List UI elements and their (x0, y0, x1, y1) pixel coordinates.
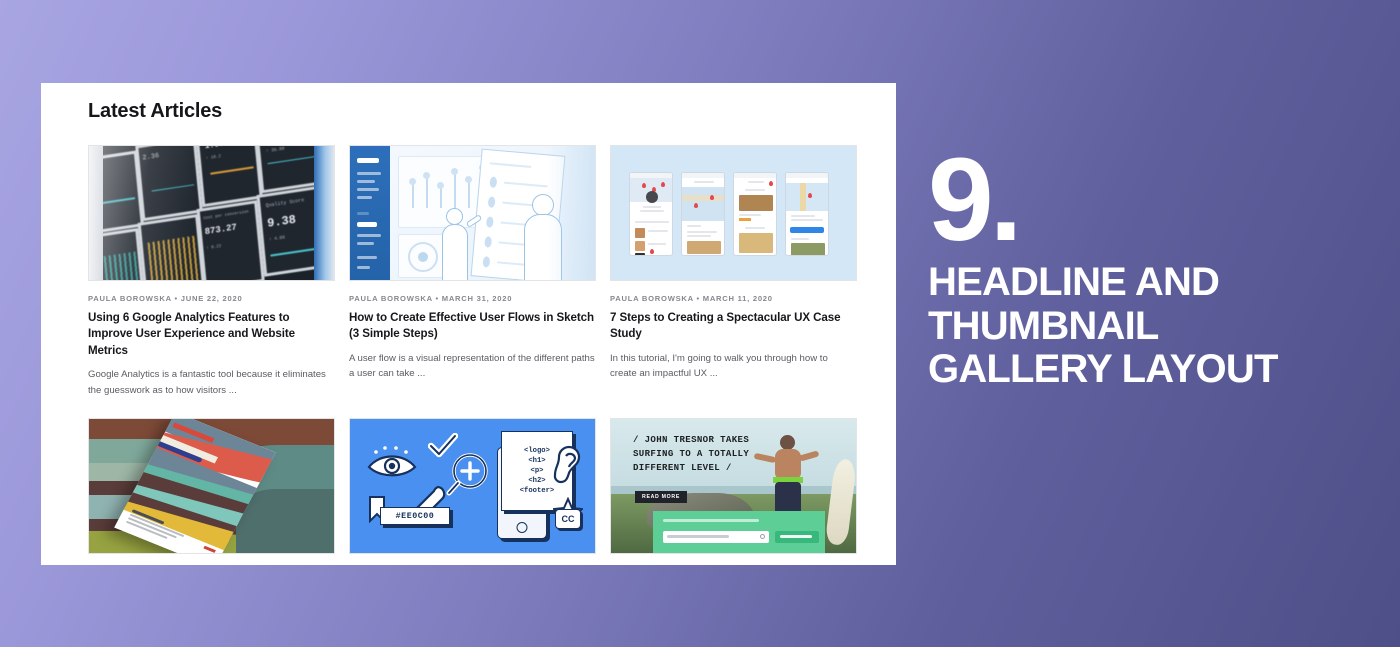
phone-mockup-1 (629, 172, 673, 256)
article-excerpt: In this tutorial, I'm going to walk you … (610, 351, 857, 381)
article-card[interactable]: PAULA BOROWSKA • MARCH 11, 2020 7 Steps … (610, 145, 857, 398)
screen-glare (89, 146, 334, 280)
promo-title: HEADLINE AND THUMBNAIL GALLERY LAYOUT (928, 261, 1388, 391)
phone-mockup-3 (733, 172, 777, 256)
article-excerpt: Google Analytics is a fantastic tool bec… (88, 367, 335, 397)
phone-mockup-4 (785, 172, 829, 256)
hero-headline-line3: DIFFERENT LEVEL / (633, 461, 783, 475)
illustration-shadow (547, 146, 595, 280)
article-headline[interactable]: 7 Steps to Creating a Spectacular UX Cas… (610, 310, 857, 343)
hero-read-more-button: READ MORE (635, 491, 687, 503)
hero-search-input (663, 531, 769, 543)
illustration-sidebar (350, 146, 390, 280)
closed-caption-badge: CC (555, 509, 581, 529)
promo-title-line3: GALLERY LAYOUT (928, 348, 1388, 391)
code-tag: <h1> (528, 457, 545, 465)
mockup-primary-button (790, 227, 824, 233)
article-thumbnail-user-flow[interactable] (349, 145, 596, 281)
hero-search-button (775, 531, 819, 543)
article-headline[interactable]: Using 6 Google Analytics Features to Imp… (88, 310, 335, 359)
illustration-person-left (446, 208, 463, 225)
article-card[interactable]: /// / JOHN TRESNOR TAKES SURFING TO A TO… (610, 418, 857, 565)
code-tag: <footer> (520, 487, 555, 495)
article-byline: PAULA BOROWSKA • MARCH 31, 2020 (349, 294, 596, 303)
article-thumbnail-accessibility[interactable]: <logo> <h1> <p> <h2> <footer> #EE (349, 418, 596, 554)
promo-number: 9. (928, 150, 1388, 251)
hero-headline-line1: / JOHN TRESNOR TAKES (633, 433, 783, 447)
hex-color-value: #EE0C00 (396, 511, 435, 521)
article-thumbnail-surfing-hero[interactable]: /// / JOHN TRESNOR TAKES SURFING TO A TO… (610, 418, 857, 554)
promo-title-line2: THUMBNAIL (928, 305, 1388, 348)
article-card[interactable]: <logo> <h1> <p> <h2> <footer> #EE (349, 418, 596, 565)
hero-decorative-slashes: /// (610, 445, 613, 486)
eye-icon (366, 445, 418, 479)
latest-articles-panel: Latest Articles (41, 83, 896, 565)
article-card[interactable]: CTR 14.65% ↑ 35.08 1.07 ↑ 18.2 Quality S… (88, 145, 335, 398)
code-tag: <h2> (528, 477, 545, 485)
article-grid: CTR 14.65% ↑ 35.08 1.07 ↑ 18.2 Quality S… (88, 145, 856, 565)
code-tag: <p> (531, 467, 544, 475)
magnifier-plus-icon (446, 451, 492, 497)
article-byline: PAULA BOROWSKA • MARCH 11, 2020 (610, 294, 857, 303)
article-card[interactable] (88, 418, 335, 565)
hero-search-panel (653, 511, 825, 554)
phone-mockup-2 (681, 172, 725, 256)
code-tag: <logo> (524, 447, 550, 455)
article-thumbnail-app-mockups[interactable] (610, 145, 857, 281)
article-headline[interactable]: How to Create Effective User Flows in Sk… (349, 310, 596, 343)
article-excerpt: A user flow is a visual representation o… (349, 351, 596, 381)
article-byline: PAULA BOROWSKA • JUNE 22, 2020 (88, 294, 335, 303)
promo-block: 9. HEADLINE AND THUMBNAIL GALLERY LAYOUT (928, 150, 1388, 391)
article-card[interactable]: PAULA BOROWSKA • MARCH 31, 2020 How to C… (349, 145, 596, 398)
page-title: Latest Articles (88, 100, 222, 123)
article-thumbnail-brochure-mockup[interactable] (88, 418, 335, 554)
hex-color-field: #EE0C00 (380, 507, 450, 525)
promo-title-line1: HEADLINE AND (928, 261, 1388, 304)
article-thumbnail-analytics-dashboard[interactable]: CTR 14.65% ↑ 35.08 1.07 ↑ 18.2 Quality S… (88, 145, 335, 281)
ear-icon (551, 441, 581, 485)
